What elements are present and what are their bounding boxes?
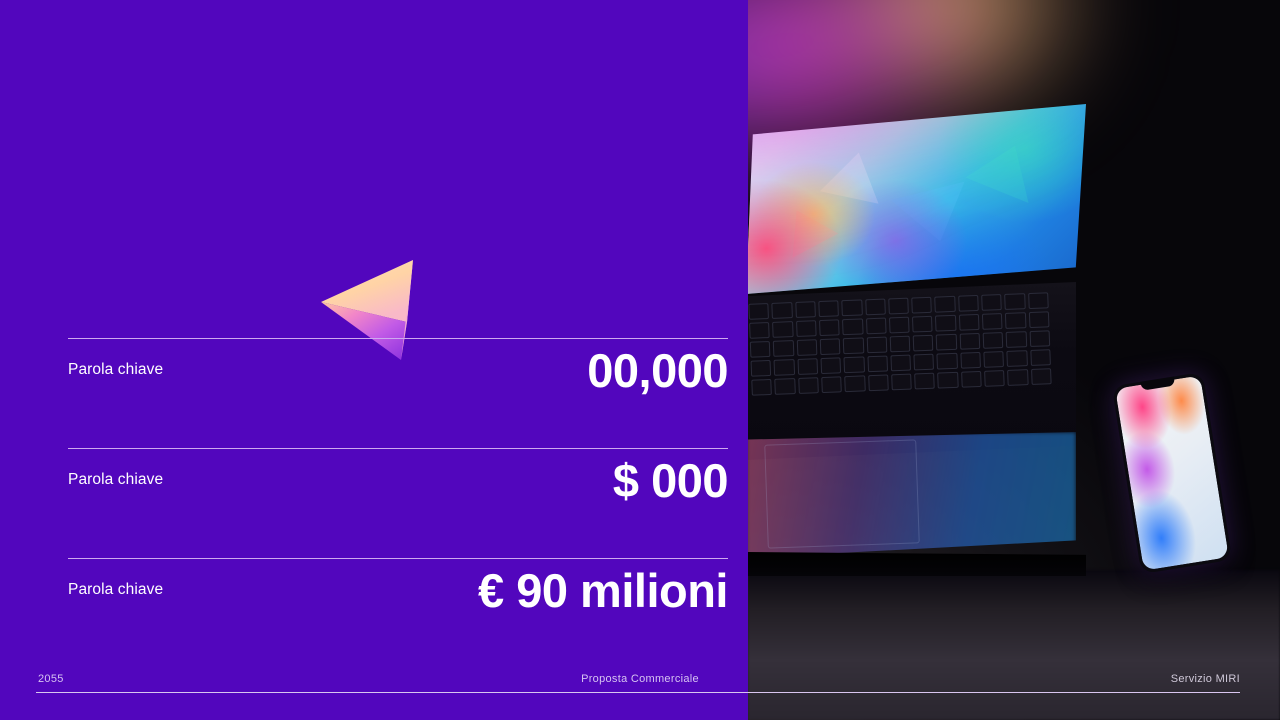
presentation-slide: 05. Business Modello bbox=[0, 0, 1280, 720]
metric-label: Parola chiave bbox=[68, 471, 163, 489]
polygon-shape bbox=[891, 182, 977, 251]
polygon-shape bbox=[820, 146, 888, 203]
desk-surface bbox=[748, 570, 1280, 720]
laptop-trackpad bbox=[764, 439, 920, 548]
footer-divider bbox=[36, 692, 1240, 693]
footer-document-title: Proposta Commerciale bbox=[0, 673, 1280, 685]
metric-label: Parola chiave bbox=[68, 581, 163, 599]
metric-value: $ 000 bbox=[613, 455, 728, 507]
metric-label: Parola chiave bbox=[68, 361, 163, 379]
polygon-shape bbox=[774, 198, 839, 258]
metrics-list: Parola chiave 00,000 Parola chiave $ 000… bbox=[68, 338, 728, 668]
polygon-shape bbox=[965, 133, 1046, 203]
laptop-front-edge bbox=[748, 552, 1086, 576]
photo-panel bbox=[748, 0, 1280, 720]
laptop-keyboard bbox=[748, 292, 1051, 395]
laptop-screen bbox=[748, 104, 1086, 294]
metric-row: Parola chiave € 90 milioni bbox=[68, 558, 728, 668]
footer-brand: Servizio MIRI bbox=[1171, 673, 1240, 685]
metric-row: Parola chiave 00,000 bbox=[68, 338, 728, 448]
metric-value: € 90 milioni bbox=[478, 565, 728, 617]
metric-row: Parola chiave $ 000 bbox=[68, 448, 728, 558]
metric-value: 00,000 bbox=[587, 345, 728, 397]
